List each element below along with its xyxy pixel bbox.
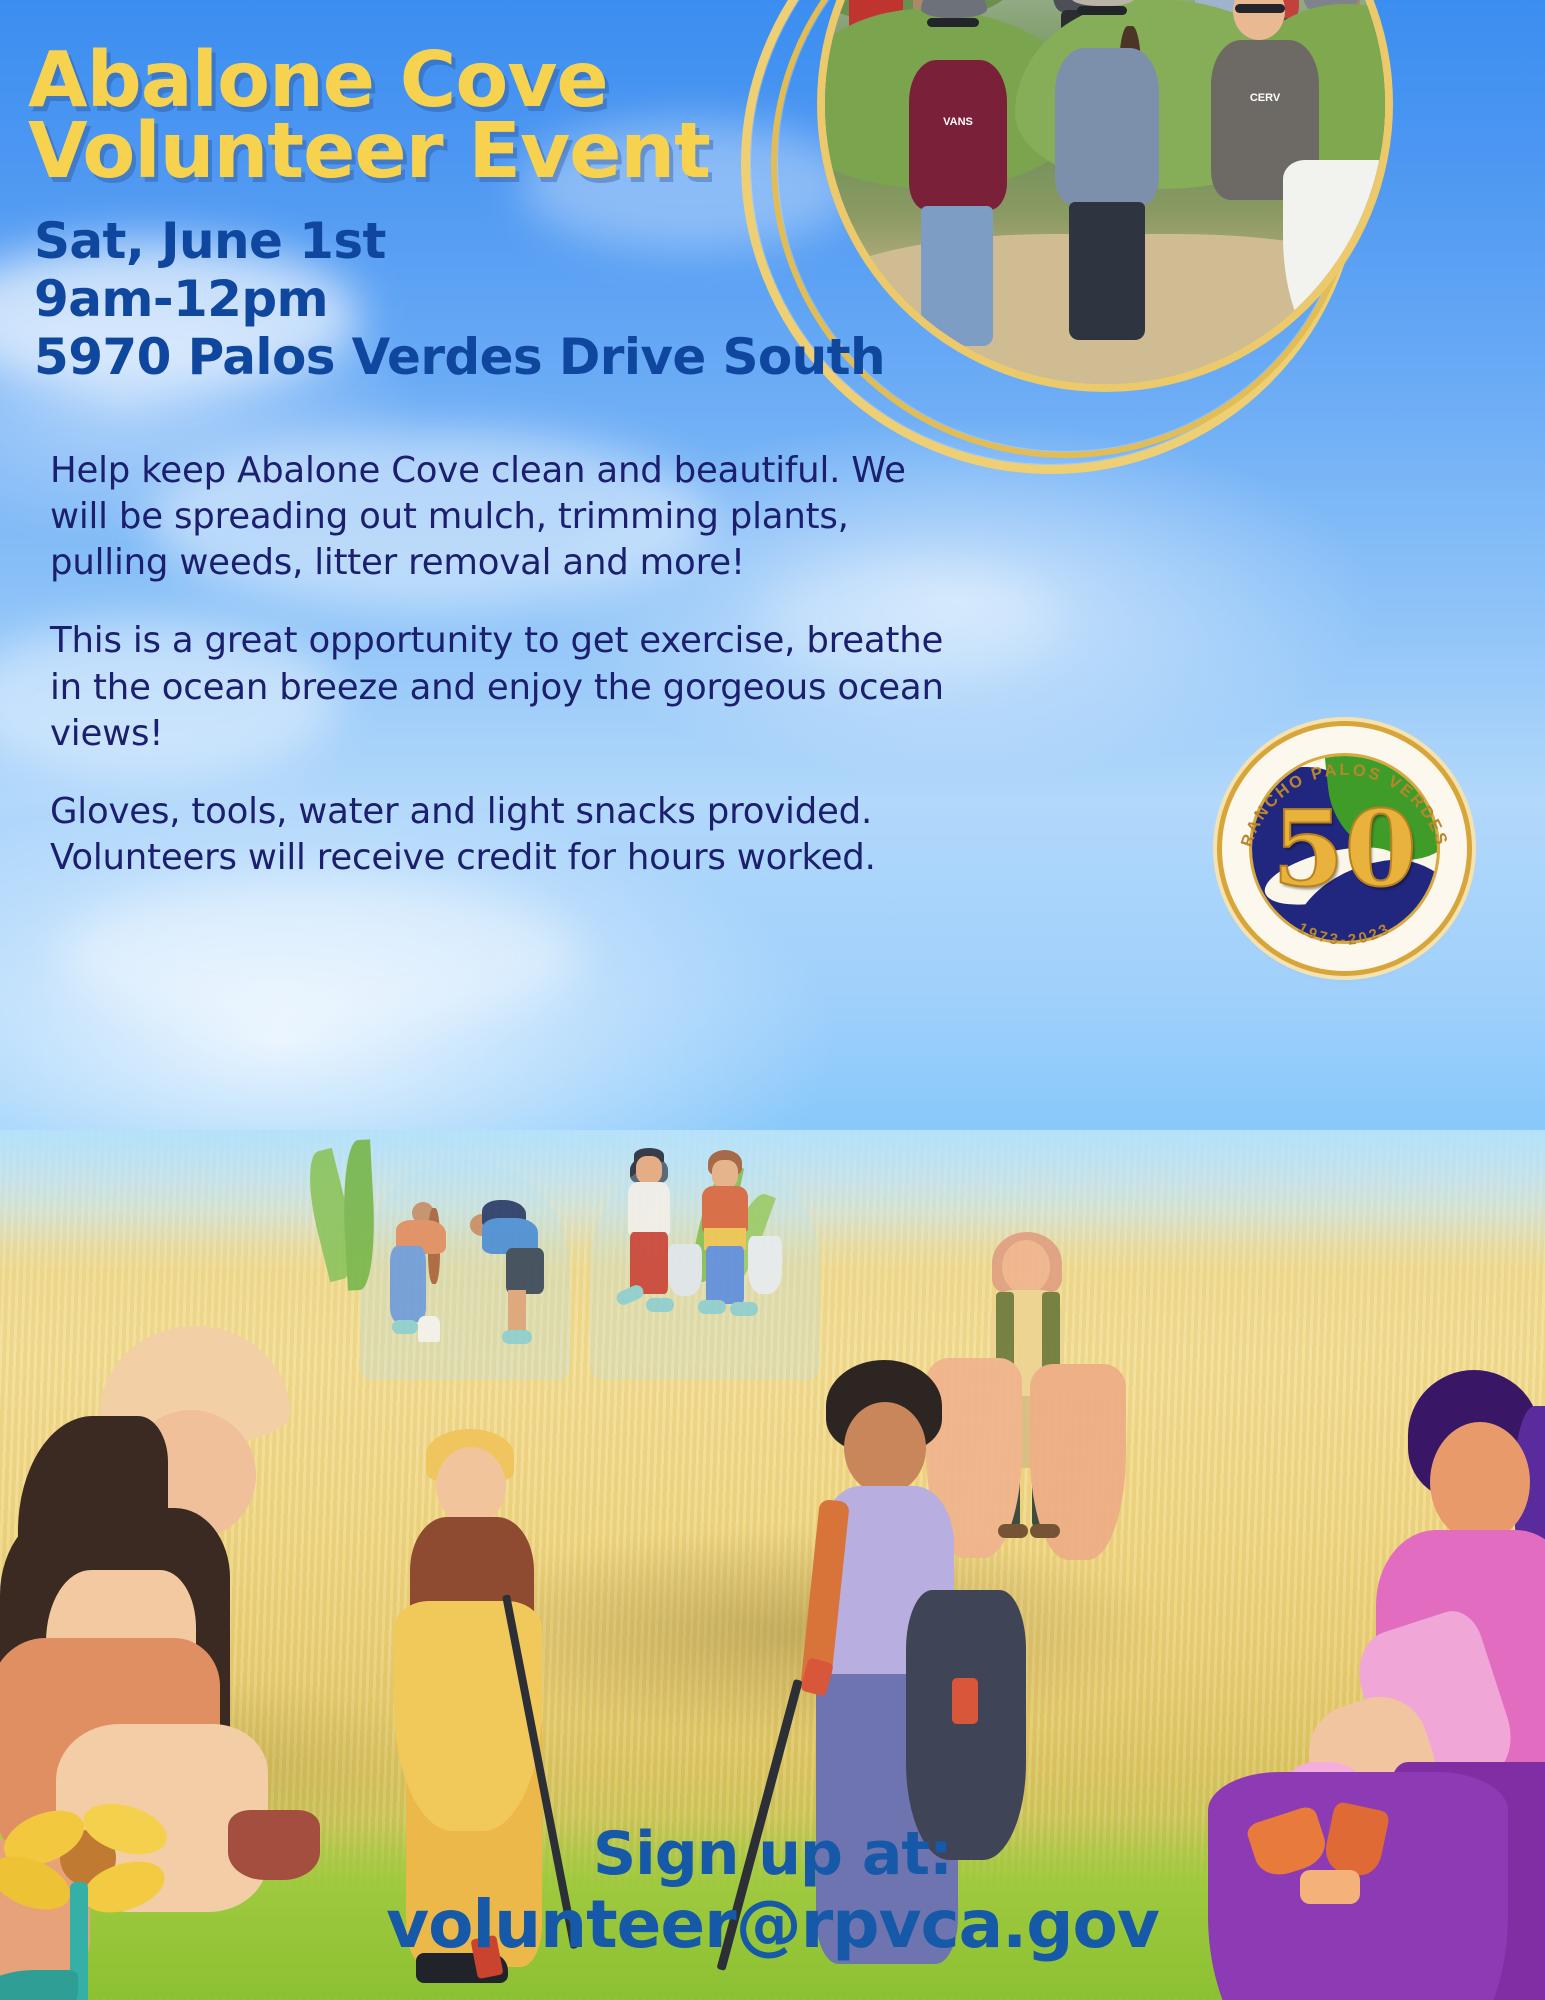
volunteer-group-photo: VANS CERV (825, 0, 1385, 384)
title-line-2: Volunteer Event (28, 117, 788, 188)
rpv-50th-anniversary-logo: 50 RANCHO PALOS VERDES 1973-2023 (1222, 726, 1467, 971)
description-paragraph-2: This is a great opportunity to get exerc… (50, 618, 950, 756)
signup-label: Sign up at: (0, 1821, 1545, 1888)
photo-shirt-text-cerv: CERV (1211, 92, 1319, 104)
signup-email[interactable]: volunteer@rpvca.gov (0, 1888, 1545, 1962)
description-paragraph-3: Gloves, tools, water and light snacks pr… (50, 789, 950, 881)
inset-cleanup-scene (300, 1140, 860, 1470)
page-title: Abalone Cove Volunteer Event (28, 46, 788, 188)
cloud-decoration (60, 880, 580, 1030)
description-paragraph-1: Help keep Abalone Cove clean and beautif… (50, 448, 950, 586)
flyer-poster: VANS CERV (0, 0, 1545, 2000)
event-description: Help keep Abalone Cove clean and beautif… (50, 448, 950, 881)
event-address: 5970 Palos Verdes Drive South (34, 328, 894, 386)
signup-callout: Sign up at: volunteer@rpvca.gov (0, 1821, 1545, 1962)
event-time: 9am-12pm (34, 270, 894, 328)
logo-number-50: 50 (1252, 797, 1437, 901)
event-date: Sat, June 1st (34, 212, 894, 270)
event-details: Sat, June 1st 9am-12pm 5970 Palos Verdes… (34, 212, 894, 386)
photo-shirt-text-vans: VANS (909, 116, 1007, 128)
logo-crest: 50 (1252, 756, 1437, 941)
